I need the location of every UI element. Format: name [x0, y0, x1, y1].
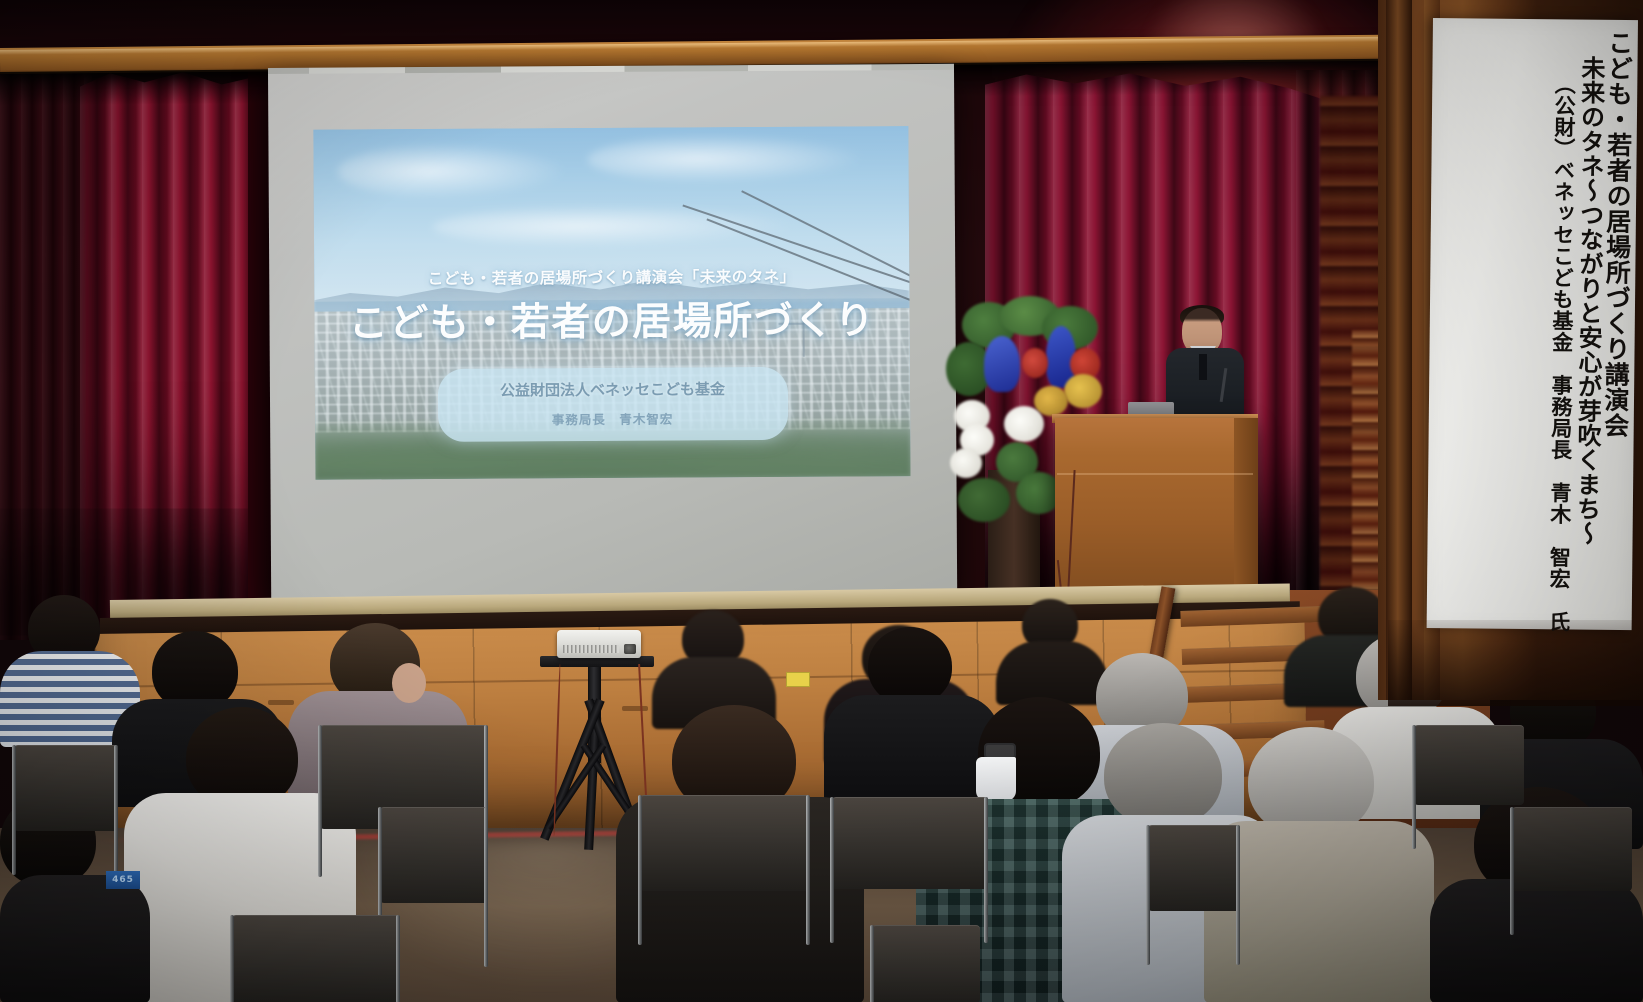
- slide-credit-panel: 公益財団法人ベネッセこども基金 事務局長 青木智宏: [437, 367, 787, 442]
- red-flower: [1022, 348, 1048, 378]
- foliage: [958, 478, 1010, 522]
- white-lily: [950, 448, 982, 478]
- seat-number-sticker: 465: [106, 871, 140, 889]
- white-lily: [1004, 406, 1044, 442]
- projection-screen: こども・若者の居場所づくり講演会「未来のタネ」 こども・若者の居場所づくり 公益…: [268, 68, 957, 602]
- slide-speaker-name: 事務局長 青木智宏: [448, 408, 778, 429]
- banner-theme-title: 未来のタネ～つながりと安心が芽吹くまち～: [1572, 30, 1604, 622]
- speaker-tie: [1199, 354, 1207, 380]
- banner-event-title: こども・若者の居場所づくり講演会: [1599, 30, 1632, 622]
- podium-seam: [1057, 473, 1253, 475]
- lecture-hall-photo: こども・若者の居場所づくり講演会「未来のタネ」 こども・若者の居場所づくり 公益…: [0, 0, 1643, 1002]
- banner-post-left: [1386, 0, 1412, 700]
- event-banner: こども・若者の居場所づくり講演会 未来のタネ～つながりと安心が芽吹くまち～ （公…: [1427, 18, 1638, 630]
- projected-slide: こども・若者の居場所づくり講演会「未来のタネ」 こども・若者の居場所づくり 公益…: [313, 126, 910, 480]
- slide-organization-name: 公益財団法人ベネッセこども基金: [447, 378, 777, 401]
- iris-flower: [984, 336, 1020, 392]
- banner-columns: こども・若者の居場所づくり講演会 未来のタネ～つながりと安心が芽吹くまち～ （公…: [1427, 18, 1638, 630]
- banner-lower-shadow: [1388, 620, 1643, 706]
- slide-header-text: こども・若者の居場所づくり講演会「未来のタネ」: [314, 264, 909, 290]
- slide-title-text: こども・若者の居場所づくり: [314, 289, 909, 349]
- yellow-flower: [1064, 374, 1102, 408]
- curtain-far-left: [0, 70, 92, 640]
